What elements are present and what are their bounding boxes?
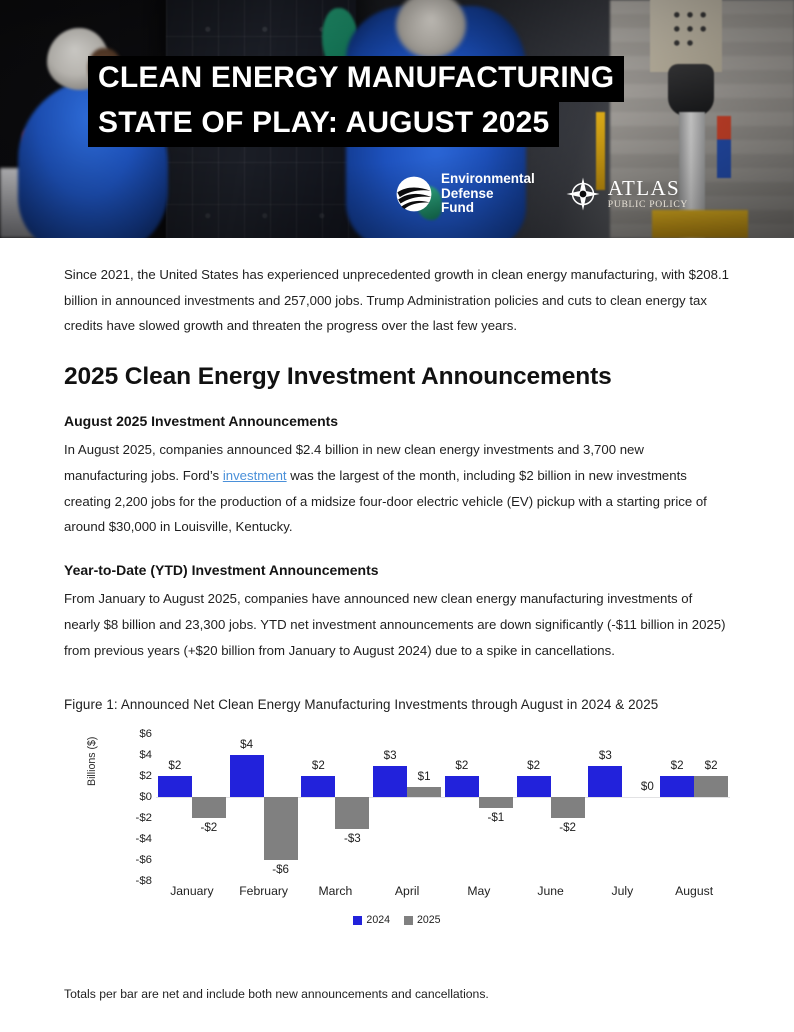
atlas-name: ATLAS bbox=[608, 178, 688, 199]
bar-2025-january[interactable] bbox=[192, 797, 226, 818]
bar-value-label: -$2 bbox=[187, 821, 231, 834]
bar-group: $4-$6 bbox=[228, 734, 300, 881]
logo-environmental-defense-fund: Environmental Defense Fund bbox=[395, 172, 535, 216]
intro-paragraph: Since 2021, the United States has experi… bbox=[64, 262, 730, 339]
y-tick-label: $6 bbox=[139, 728, 152, 740]
bar-2024-january[interactable] bbox=[158, 776, 192, 797]
bar-group: $2-$2 bbox=[515, 734, 587, 881]
legend-item-2024[interactable]: 2024 bbox=[353, 914, 390, 926]
y-tick-label: -$2 bbox=[136, 812, 152, 824]
edf-wordmark: Environmental Defense Fund bbox=[441, 172, 535, 216]
bar-2024-march[interactable] bbox=[301, 776, 335, 797]
bar-group: $2-$2 bbox=[156, 734, 228, 881]
bar-2024-august[interactable] bbox=[660, 776, 694, 797]
y-tick-label: -$6 bbox=[136, 854, 152, 866]
logo-atlas-public-policy: ATLAS PUBLIC POLICY bbox=[565, 176, 688, 212]
hero-logos: Environmental Defense Fund ATLAS PUBLIC … bbox=[395, 172, 688, 216]
x-axis-labels: JanuaryFebruaryMarchAprilMayJuneJulyAugu… bbox=[156, 884, 730, 906]
bar-value-label: $2 bbox=[440, 759, 484, 772]
august-paragraph: In August 2025, companies announced $2.4… bbox=[64, 437, 730, 540]
legend-label-2025: 2025 bbox=[417, 914, 441, 926]
hero-title-line-1: CLEAN ENERGY MANUFACTURING bbox=[88, 56, 624, 102]
bar-2024-july[interactable] bbox=[588, 766, 622, 798]
y-tick-label: $0 bbox=[139, 791, 152, 803]
hero-title-line-2: STATE OF PLAY: AUGUST 2025 bbox=[88, 101, 559, 147]
bar-value-label: -$3 bbox=[330, 832, 374, 845]
legend-swatch-2024 bbox=[353, 916, 362, 925]
x-tick-label-august: August bbox=[649, 884, 739, 898]
edf-globe-icon bbox=[395, 175, 433, 213]
ford-investment-link[interactable]: investment bbox=[223, 468, 287, 483]
subheading-ytd: Year-to-Date (YTD) Investment Announceme… bbox=[64, 562, 730, 578]
ytd-paragraph: From January to August 2025, companies h… bbox=[64, 586, 730, 663]
edf-line-2: Defense bbox=[441, 187, 535, 202]
y-tick-label: -$4 bbox=[136, 833, 152, 845]
bar-2024-february[interactable] bbox=[230, 755, 264, 797]
chart-legend: 20242025 bbox=[64, 914, 730, 926]
bar-2025-february[interactable] bbox=[264, 797, 298, 860]
legend-item-2025[interactable]: 2025 bbox=[404, 914, 441, 926]
bar-value-label: -$2 bbox=[546, 821, 590, 834]
bar-2025-june[interactable] bbox=[551, 797, 585, 818]
bar-group: $3$0 bbox=[587, 734, 659, 881]
figure-1-note: Totals per bar are net and include both … bbox=[64, 987, 730, 1001]
y-tick-label: $2 bbox=[139, 770, 152, 782]
bar-value-label: $2 bbox=[296, 759, 340, 772]
bar-2024-june[interactable] bbox=[517, 776, 551, 797]
edf-line-3: Fund bbox=[441, 201, 535, 216]
atlas-wordmark: ATLAS PUBLIC POLICY bbox=[608, 178, 688, 210]
bar-value-label: -$6 bbox=[259, 863, 303, 876]
legend-label-2024: 2024 bbox=[366, 914, 390, 926]
bar-value-label: $3 bbox=[583, 749, 627, 762]
bar-group: $2-$1 bbox=[443, 734, 515, 881]
bar-2025-march[interactable] bbox=[335, 797, 369, 829]
y-tick-label: $4 bbox=[139, 749, 152, 761]
plot-area: $2-$2$4-$6$2-$3$3$1$2-$1$2-$2$3$0$2$2 bbox=[156, 734, 730, 881]
hero-title: CLEAN ENERGY MANUFACTURING STATE OF PLAY… bbox=[88, 56, 624, 147]
bar-value-label: $4 bbox=[225, 738, 269, 751]
atlas-compass-icon bbox=[565, 176, 601, 212]
bar-2025-april[interactable] bbox=[407, 787, 441, 798]
bar-2025-august[interactable] bbox=[694, 776, 728, 797]
y-axis-ticks: $6$4$2$0-$2-$4-$6-$8 bbox=[92, 734, 152, 881]
bar-group: $2-$3 bbox=[300, 734, 372, 881]
bar-value-label: $2 bbox=[153, 759, 197, 772]
bar-group: $2$2 bbox=[658, 734, 730, 881]
atlas-tagline: PUBLIC POLICY bbox=[608, 200, 688, 210]
bar-value-label: $2 bbox=[689, 759, 733, 772]
bar-value-label: $3 bbox=[368, 749, 412, 762]
bar-value-label: $2 bbox=[512, 759, 556, 772]
subheading-august-2025: August 2025 Investment Announcements bbox=[64, 413, 730, 429]
figure-1-chart: Billions ($) $6$4$2$0-$2-$4-$6-$8 $2-$2$… bbox=[64, 734, 730, 939]
document-body: Since 2021, the United States has experi… bbox=[0, 262, 794, 1001]
figure-1-title: Figure 1: Announced Net Clean Energy Man… bbox=[64, 697, 730, 712]
bar-group: $3$1 bbox=[371, 734, 443, 881]
section-heading-2025: 2025 Clean Energy Investment Announcemen… bbox=[64, 363, 730, 391]
hero-banner: CLEAN ENERGY MANUFACTURING STATE OF PLAY… bbox=[0, 0, 794, 238]
legend-swatch-2025 bbox=[404, 916, 413, 925]
bar-2024-may[interactable] bbox=[445, 776, 479, 797]
bar-2025-may[interactable] bbox=[479, 797, 513, 808]
bar-value-label: -$1 bbox=[474, 811, 518, 824]
edf-line-1: Environmental bbox=[441, 172, 535, 187]
